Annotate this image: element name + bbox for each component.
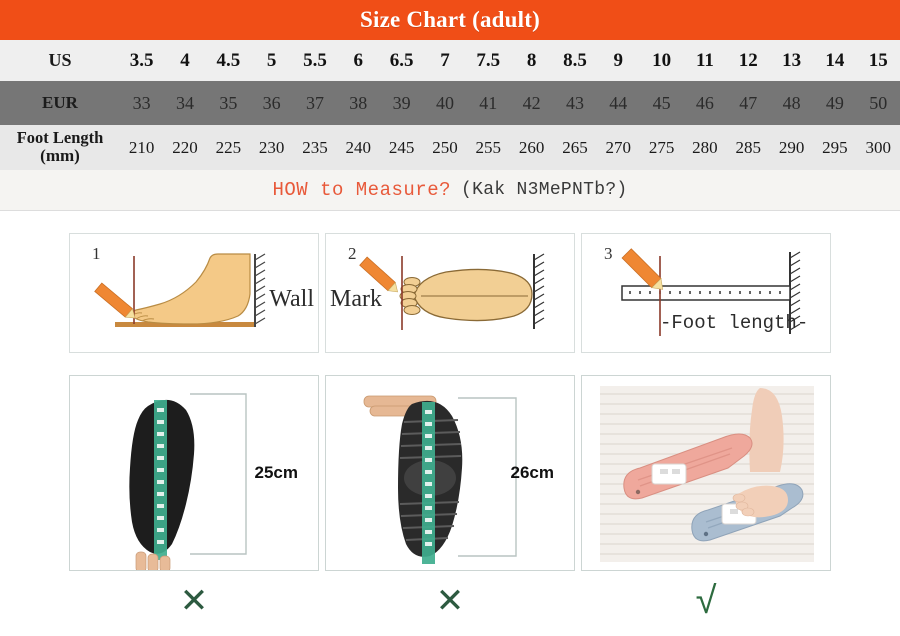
cell-eur-2: 35 <box>207 81 250 125</box>
verdict-measuring-device: √ <box>581 577 831 625</box>
cell-us-6: 6.5 <box>380 40 423 81</box>
ruler-measure-icon <box>582 234 831 353</box>
example-panel-measuring-device <box>581 375 831 571</box>
cell-foot-3: 230 <box>250 125 293 170</box>
cell-foot-5: 240 <box>337 125 380 170</box>
illustration-area: 1 Wall <box>0 211 900 625</box>
cell-eur-5: 38 <box>337 81 380 125</box>
step-panel-2: 2 Mark <box>325 233 575 353</box>
step-label-mark: Mark <box>330 286 382 313</box>
how-to-measure-title: HOW to Measure? <box>272 179 451 201</box>
cell-foot-7: 250 <box>423 125 466 170</box>
verdict-outsole: ✕ <box>325 577 575 625</box>
measurement-label-outsole: 26cm <box>511 463 554 483</box>
cell-eur-11: 44 <box>597 81 640 125</box>
cell-us-17: 15 <box>857 40 900 81</box>
cell-eur-17: 50 <box>857 81 900 125</box>
cell-us-2: 4.5 <box>207 40 250 81</box>
table-row-foot-length: Foot Length (mm) 210 220 225 230 235 240… <box>0 125 900 170</box>
cell-us-16: 14 <box>813 40 856 81</box>
size-chart-table: US 3.5 4 4.5 5 5.5 6 6.5 7 7.5 8 8.5 9 1… <box>0 40 900 170</box>
cell-us-12: 10 <box>640 40 683 81</box>
step-label-wall: Wall <box>269 286 314 313</box>
cell-us-10: 8.5 <box>553 40 596 81</box>
cell-eur-4: 37 <box>293 81 336 125</box>
cell-us-5: 6 <box>337 40 380 81</box>
cell-eur-9: 42 <box>510 81 553 125</box>
cell-eur-12: 45 <box>640 81 683 125</box>
cell-us-1: 4 <box>163 40 206 81</box>
step-panel-1: 1 Wall <box>69 233 319 353</box>
cell-foot-15: 290 <box>770 125 813 170</box>
verdict-insole: ✕ <box>69 577 319 625</box>
cell-eur-0: 33 <box>120 81 163 125</box>
cell-us-7: 7 <box>423 40 466 81</box>
row-label-foot-length-unit: (mm) <box>0 147 120 165</box>
cell-foot-9: 260 <box>510 125 553 170</box>
cell-eur-3: 36 <box>250 81 293 125</box>
cell-foot-0: 210 <box>120 125 163 170</box>
cell-us-13: 11 <box>683 40 726 81</box>
cell-us-15: 13 <box>770 40 813 81</box>
row-label-foot-length: Foot Length (mm) <box>0 125 120 170</box>
cell-eur-1: 34 <box>163 81 206 125</box>
cell-us-9: 8 <box>510 40 553 81</box>
cell-eur-16: 49 <box>813 81 856 125</box>
page-header: Size Chart (adult) <box>0 0 900 40</box>
cell-us-3: 5 <box>250 40 293 81</box>
cell-foot-4: 235 <box>293 125 336 170</box>
cell-us-11: 9 <box>597 40 640 81</box>
row-label-foot-length-main: Foot Length <box>17 128 104 147</box>
foot-measuring-device-icon <box>582 376 831 571</box>
cell-us-0: 3.5 <box>120 40 163 81</box>
page-title: Size Chart (adult) <box>360 7 540 33</box>
cell-us-4: 5.5 <box>293 40 336 81</box>
cell-foot-17: 300 <box>857 125 900 170</box>
step-panel-3: 3 -Foot length- <box>581 233 831 353</box>
step-label-foot-length: -Foot length- <box>660 312 808 334</box>
measurement-label-insole: 25cm <box>255 463 298 483</box>
cell-eur-15: 48 <box>770 81 813 125</box>
cell-foot-1: 220 <box>163 125 206 170</box>
examples-row: 25cm <box>0 375 900 571</box>
cell-foot-6: 245 <box>380 125 423 170</box>
row-label-eur: EUR <box>0 81 120 125</box>
step-number-1: 1 <box>92 244 101 264</box>
steps-row: 1 Wall <box>0 233 900 353</box>
cell-foot-10: 265 <box>553 125 596 170</box>
step-number-2: 2 <box>348 244 357 264</box>
cell-eur-10: 43 <box>553 81 596 125</box>
example-panel-insole: 25cm <box>69 375 319 571</box>
cell-us-8: 7.5 <box>467 40 510 81</box>
cell-foot-11: 270 <box>597 125 640 170</box>
cell-foot-14: 285 <box>727 125 770 170</box>
row-label-us: US <box>0 40 120 81</box>
cell-eur-7: 40 <box>423 81 466 125</box>
cell-foot-8: 255 <box>467 125 510 170</box>
how-to-measure-band: HOW to Measure? (Kak N3MePNTb?) <box>0 170 900 211</box>
example-panel-outsole: 26cm <box>325 375 575 571</box>
table-row-us: US 3.5 4 4.5 5 5.5 6 6.5 7 7.5 8 8.5 9 1… <box>0 40 900 81</box>
cell-foot-13: 280 <box>683 125 726 170</box>
verdict-row: ✕ ✕ √ <box>0 577 900 625</box>
cell-eur-8: 41 <box>467 81 510 125</box>
cell-us-14: 12 <box>727 40 770 81</box>
cell-foot-12: 275 <box>640 125 683 170</box>
cell-foot-16: 295 <box>813 125 856 170</box>
cell-eur-6: 39 <box>380 81 423 125</box>
cell-foot-2: 225 <box>207 125 250 170</box>
how-to-measure-subtitle: (Kak N3MePNTb?) <box>461 180 628 200</box>
table-row-eur: EUR 33 34 35 36 37 38 39 40 41 42 43 44 … <box>0 81 900 125</box>
cell-eur-13: 46 <box>683 81 726 125</box>
step-number-3: 3 <box>604 244 613 264</box>
cell-eur-14: 47 <box>727 81 770 125</box>
